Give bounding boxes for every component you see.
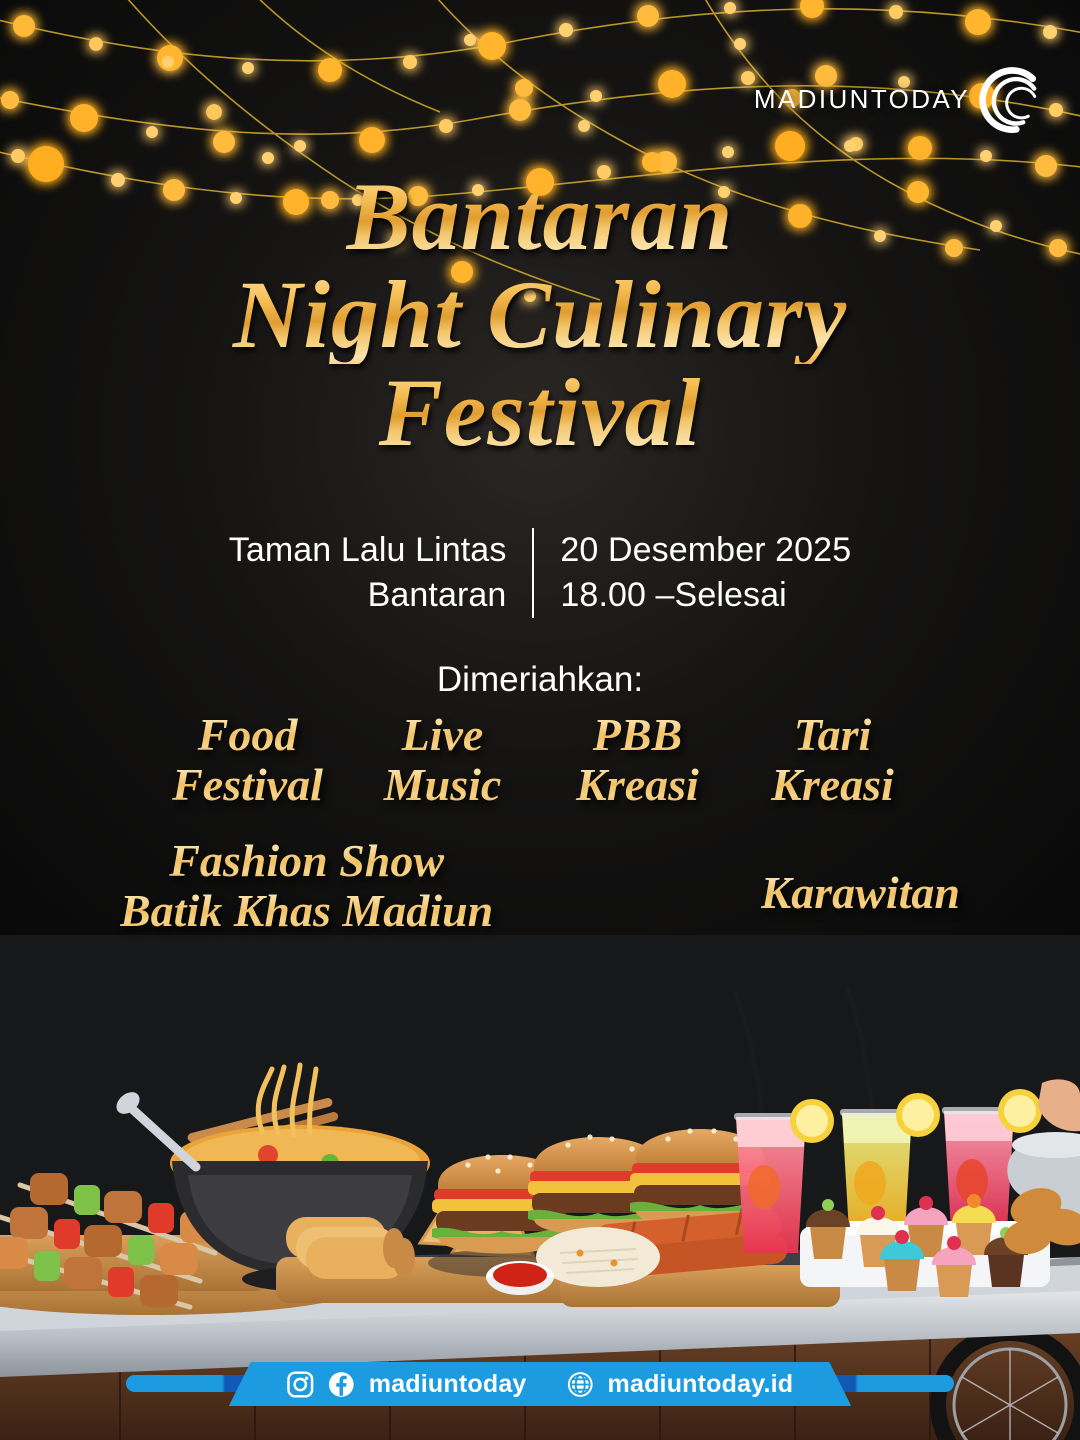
event-date: 20 Desember 2025 bbox=[560, 528, 851, 573]
swoosh-crescent-icon bbox=[972, 62, 1046, 136]
globe-icon[interactable] bbox=[567, 1371, 594, 1398]
event-details: Taman Lalu Lintas Bantaran 20 Desember 2… bbox=[0, 528, 1080, 618]
venue-line-2: Bantaran bbox=[229, 573, 507, 618]
brand-logo-text: MADIUNTODAY bbox=[754, 84, 970, 115]
poster: MADIUNTODAY Bantaran Night Culinary Fest… bbox=[0, 0, 1080, 1440]
event-time: 18.00 –Selesai bbox=[560, 573, 851, 618]
lineup-item: Karawitan bbox=[761, 836, 960, 918]
facebook-icon[interactable] bbox=[328, 1371, 355, 1398]
social-banner: madiuntoday madiuntoday.id bbox=[229, 1362, 851, 1406]
lineup-item: Tari Kreasi bbox=[735, 710, 930, 809]
lineup-item-line-2: Batik Khas Madiun bbox=[120, 886, 493, 936]
lineup-item-line-1: Karawitan bbox=[761, 868, 960, 918]
lineup-item-line-2: Kreasi bbox=[540, 760, 735, 810]
lineup-item-line-1: Fashion Show bbox=[120, 836, 493, 886]
title-line-3: Festival bbox=[0, 364, 1080, 462]
website-url[interactable]: madiuntoday.id bbox=[608, 1370, 794, 1399]
footer-bar: madiuntoday madiuntoday.id bbox=[0, 1362, 1080, 1406]
venue-block: Taman Lalu Lintas Bantaran bbox=[229, 528, 533, 618]
lineup-item: Fashion Show Batik Khas Madiun bbox=[120, 836, 493, 935]
lineup-item: Live Music bbox=[345, 710, 540, 809]
lineup-item: Food Festival bbox=[150, 710, 345, 809]
poster-title: Bantaran Night Culinary Festival bbox=[0, 168, 1080, 462]
lineup-item-line-1: Food bbox=[150, 710, 345, 760]
title-line-2: Night Culinary bbox=[0, 266, 1080, 364]
lineup-item-line-2: Music bbox=[345, 760, 540, 810]
instagram-icon[interactable] bbox=[287, 1371, 314, 1398]
lineup-item-line-2: Festival bbox=[150, 760, 345, 810]
lineup-item-line-1: Tari bbox=[735, 710, 930, 760]
lineup-item-line-1: Live bbox=[345, 710, 540, 760]
lineup-item-line-2: Kreasi bbox=[735, 760, 930, 810]
lineup-row-1: Food Festival Live Music PBB Kreasi Tari… bbox=[150, 710, 930, 809]
datetime-block: 20 Desember 2025 18.00 –Selesai bbox=[534, 528, 851, 618]
social-handle[interactable]: madiuntoday bbox=[369, 1370, 527, 1399]
lineup-item-line-1: PBB bbox=[540, 710, 735, 760]
lineup-item: PBB Kreasi bbox=[540, 710, 735, 809]
title-line-1: Bantaran bbox=[0, 168, 1080, 266]
venue-line-1: Taman Lalu Lintas bbox=[229, 528, 507, 573]
brand-logo: MADIUNTODAY bbox=[754, 62, 1046, 136]
lineup-row-2: Fashion Show Batik Khas Madiun Karawitan bbox=[120, 836, 960, 935]
lineup-heading: Dimeriahkan: bbox=[0, 660, 1080, 700]
